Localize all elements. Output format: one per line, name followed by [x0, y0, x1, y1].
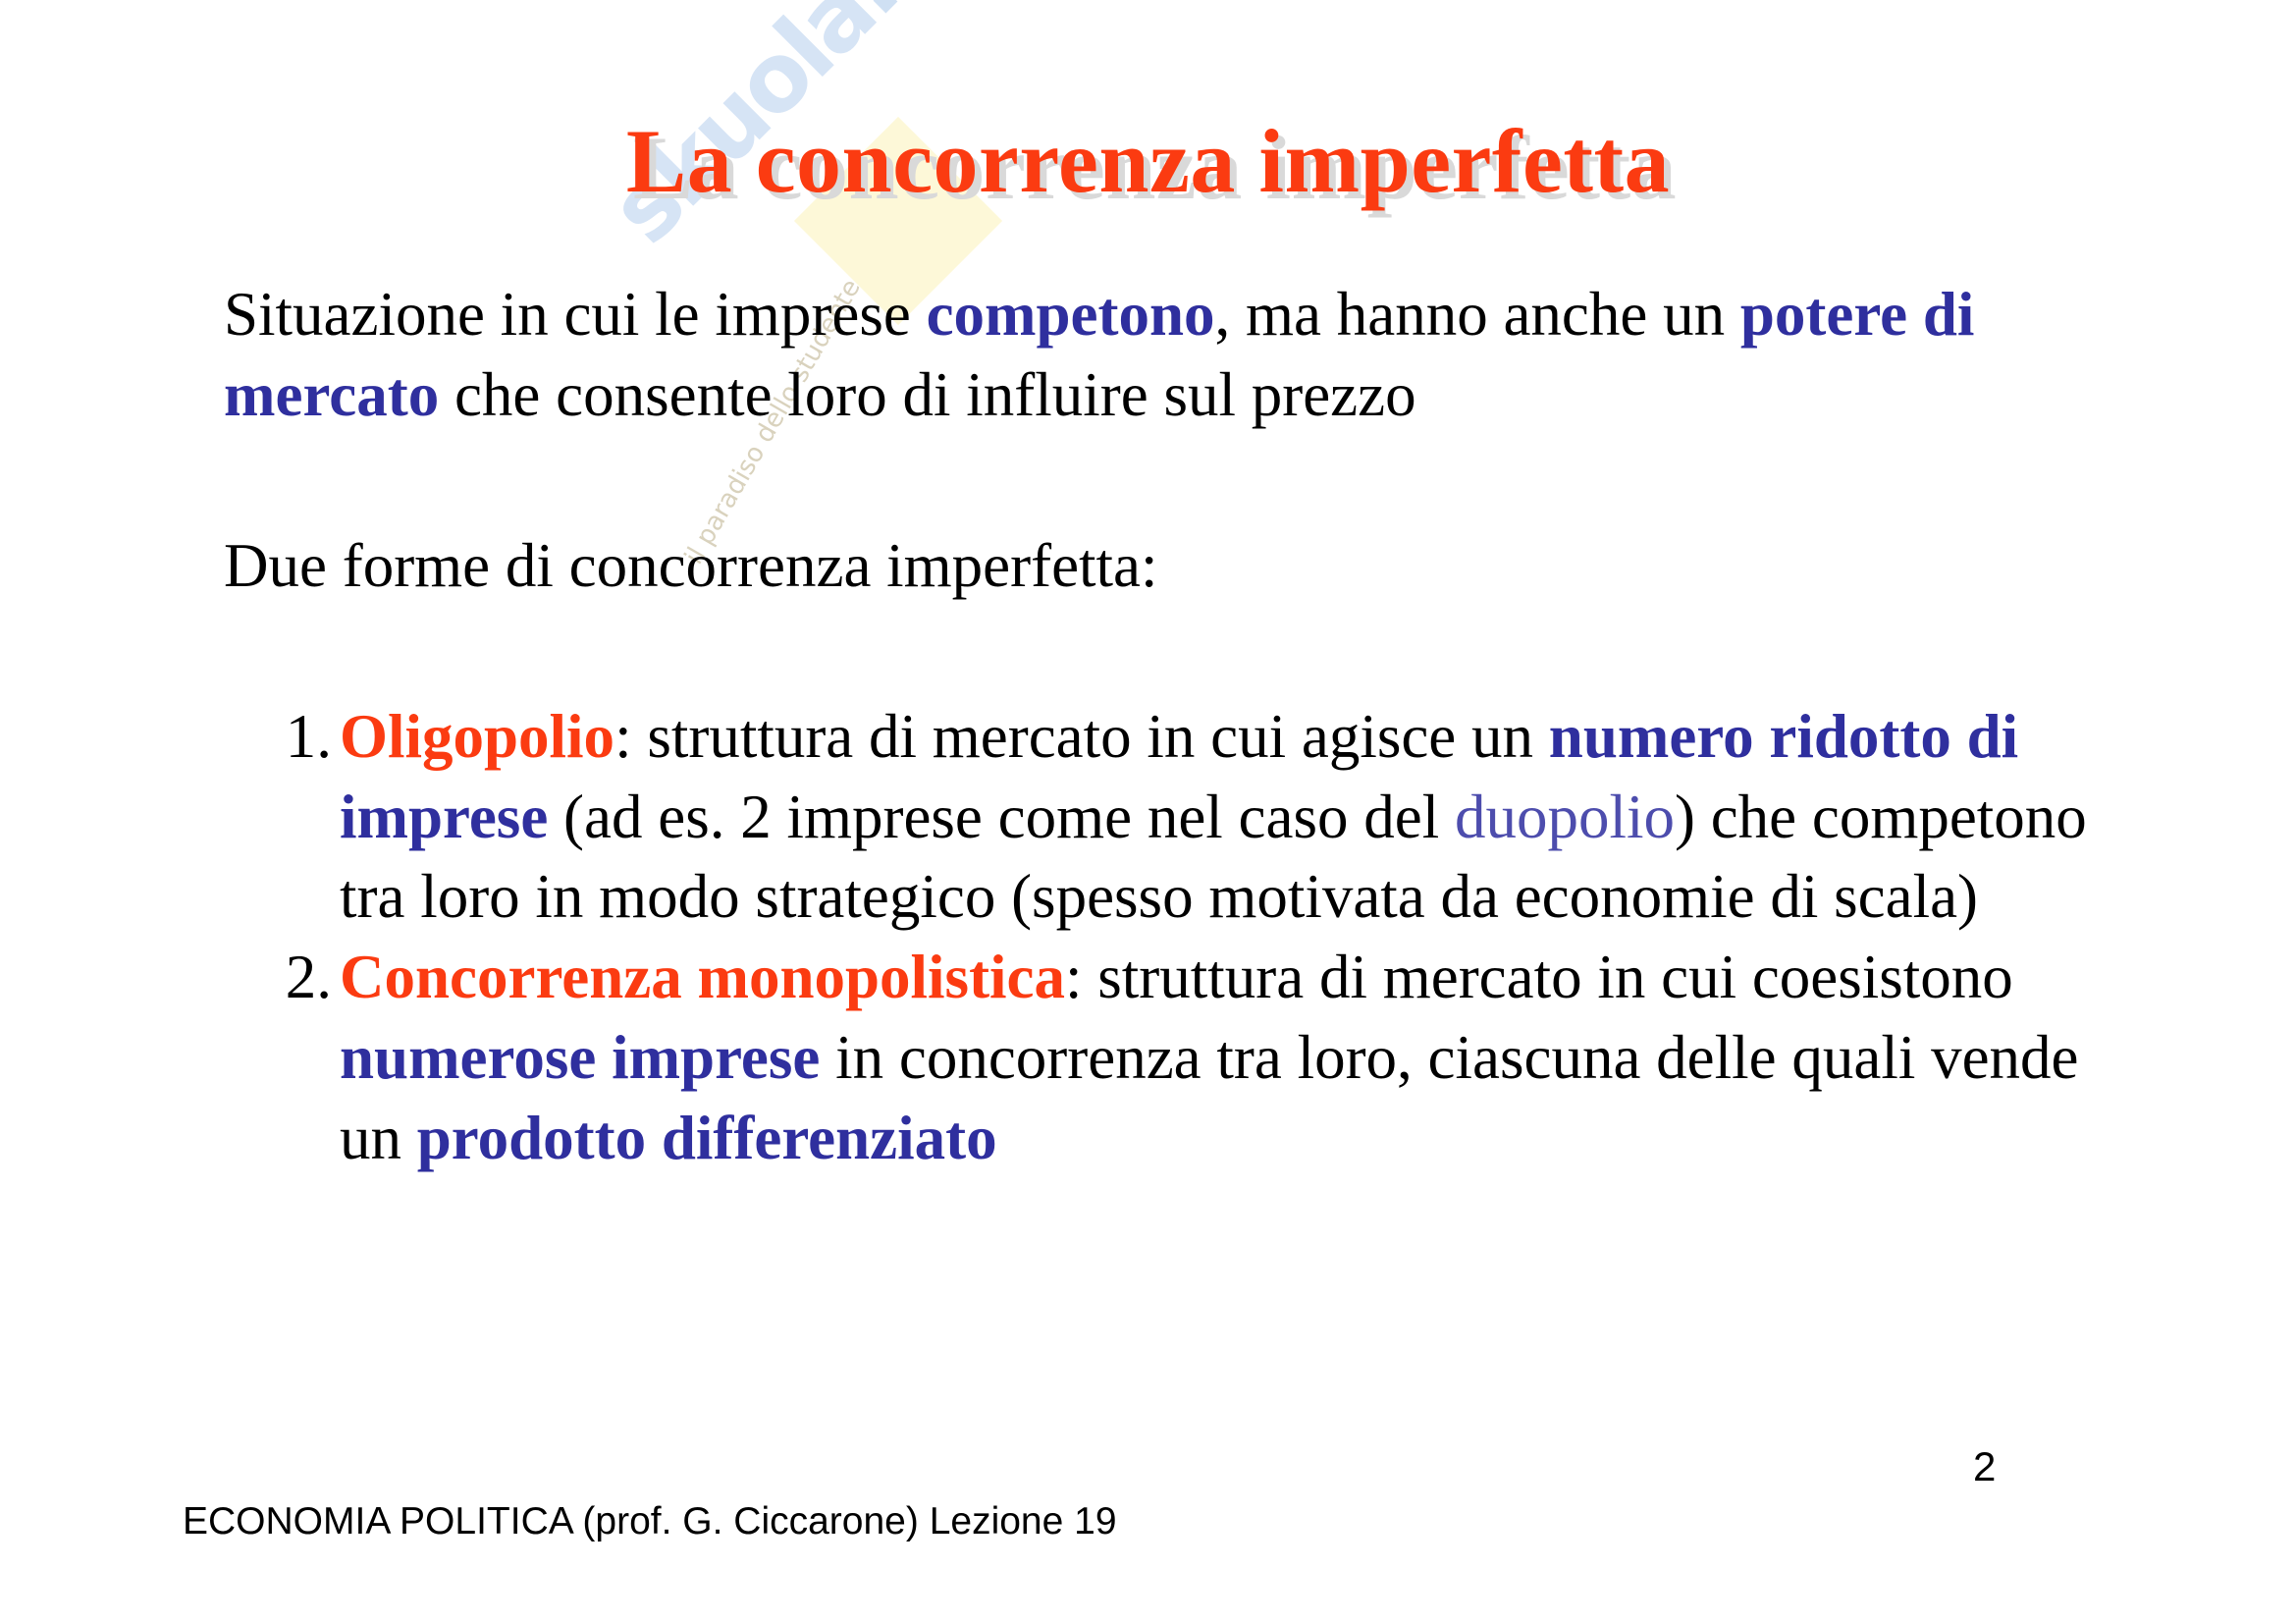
- intro-seg-1-competono: competono: [927, 280, 1215, 349]
- point-1-seg-3: (ad es. 2 imprese come nel caso del: [548, 783, 1455, 851]
- point-1-emph-duopolio: duopolio: [1455, 783, 1675, 851]
- page-number: 2: [1973, 1443, 1996, 1490]
- list-item-concorrenza-monopolistica: Concorrenza monopolistica: struttura di …: [224, 938, 2128, 1179]
- slide-body: Situazione in cui le imprese competono, …: [224, 275, 2128, 1179]
- point-2-emph-prodotto-differenziato: prodotto differenziato: [417, 1104, 997, 1172]
- intro-seg-4: che consente loro di influire sul prezzo: [439, 360, 1415, 429]
- watermark-logo-tld: .net: [818, 0, 1034, 36]
- intro-seg-2: , ma hanno anche un: [1215, 280, 1740, 349]
- point-2-term: Concorrenza monopolistica: [340, 943, 1065, 1011]
- intro-seg-0: Situazione in cui le imprese: [224, 280, 927, 349]
- slide-footer: ECONOMIA POLITICA (prof. G. Ciccarone) L…: [183, 1500, 1117, 1543]
- forms-list: Oligopolio: struttura di mercato in cui …: [224, 697, 2128, 1179]
- slide-title: La concorrenza imperfetta: [0, 116, 2296, 206]
- point-1-term: Oligopolio: [340, 702, 614, 771]
- point-1-seg-1: : struttura di mercato in cui agisce un: [614, 702, 1549, 771]
- point-2-seg-1: : struttura di mercato in cui coesistono: [1065, 943, 2013, 1011]
- list-spacer: [224, 607, 2128, 697]
- paragraph-spacer: [224, 436, 2128, 526]
- lead-in-paragraph: Due forme di concorrenza imperfetta:: [224, 526, 2128, 607]
- intro-paragraph: Situazione in cui le imprese competono, …: [224, 275, 2128, 436]
- point-2-emph-numerose-imprese: numerose imprese: [340, 1023, 820, 1092]
- list-item-oligopolio: Oligopolio: struttura di mercato in cui …: [224, 697, 2128, 939]
- slide-canvas: skuola.net il paradiso dello studente La…: [0, 0, 2296, 1623]
